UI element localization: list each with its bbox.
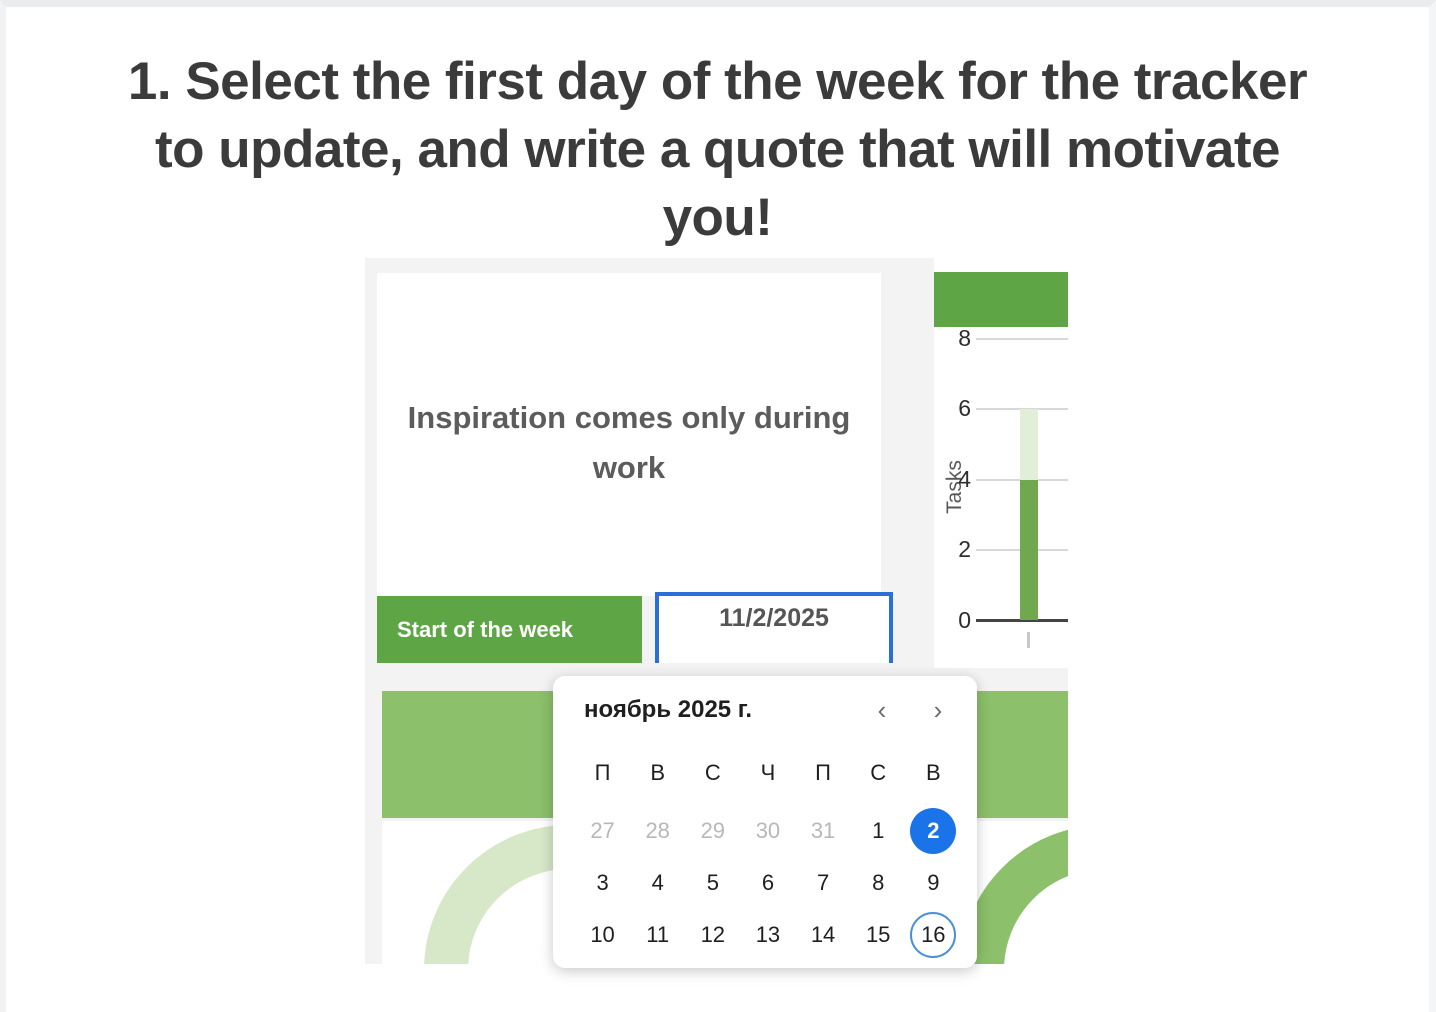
tasks-chart-panel: Tasks 8 6 4 2 0 [934,258,1068,668]
calendar-weekday: С [851,760,906,786]
date-picker-popup[interactable]: ноябрь 2025 г. ‹ › П В С Ч П С В 2728293… [553,676,977,968]
calendar-day-13[interactable]: 13 [740,912,795,958]
week-start-date-input[interactable]: 11/2/2025 [655,592,893,667]
calendar-week-row: 272829303112 [575,808,961,854]
calendar-weekday: П [575,760,630,786]
calendar-day-label: 11 [635,912,681,958]
calendar-weekday: П [796,760,851,786]
calendar-day-label: 14 [800,912,846,958]
calendar-day-12[interactable]: 12 [685,912,740,958]
calendar-day-1[interactable]: 1 [851,808,906,854]
calendar-day-label: 13 [745,912,791,958]
calendar-header: ноябрь 2025 г. ‹ › [553,696,977,738]
calendar-day-label: 3 [580,860,626,906]
calendar-day-label: 16 [910,912,956,958]
calendar-month-label: ноябрь 2025 г. [584,696,752,724]
quote-text: Inspiration comes only during work [377,393,881,493]
calendar-day-label: 15 [855,912,901,958]
chevron-right-icon[interactable]: › [921,694,955,728]
calendar-day-label: 12 [690,912,736,958]
calendar-day-6[interactable]: 6 [740,860,795,906]
calendar-day-29[interactable]: 29 [685,808,740,854]
calendar-day-3[interactable]: 3 [575,860,630,906]
chart-header-bar [934,272,1068,327]
chart-ytick-2: 2 [947,536,971,563]
calendar-day-15[interactable]: 15 [851,912,906,958]
calendar-day-label: 2 [910,808,956,854]
calendar-day-10[interactable]: 10 [575,912,630,958]
chart-ytick-4: 4 [947,466,971,493]
calendar-weekday-header: П В С Ч П С В [575,760,961,786]
calendar-weekday: С [685,760,740,786]
chart-bar-remaining [1020,409,1038,480]
calendar-day-label: 28 [635,808,681,854]
calendar-week-row: 3456789 [575,860,961,906]
calendar-day-8[interactable]: 8 [851,860,906,906]
calendar-weekday: Ч [740,760,795,786]
chart-ytick-6: 6 [947,395,971,422]
calendar-day-label: 30 [745,808,791,854]
calendar-day-label: 27 [580,808,626,854]
calendar-day-31[interactable]: 31 [796,808,851,854]
calendar-weekday: В [906,760,961,786]
calendar-day-label: 31 [800,808,846,854]
calendar-day-28[interactable]: 28 [630,808,685,854]
week-start-date-value: 11/2/2025 [719,604,829,633]
calendar-day-11[interactable]: 11 [630,912,685,958]
calendar-day-label: 29 [690,808,736,854]
calendar-day-7[interactable]: 7 [796,860,851,906]
calendar-week-row: 10111213141516 [575,912,961,958]
calendar-day-label: 6 [745,860,791,906]
calendar-day-label: 7 [800,860,846,906]
calendar-day-label: 9 [910,860,956,906]
calendar-day-30[interactable]: 30 [740,808,795,854]
chart-ytick-0: 0 [947,607,971,634]
calendar-day-14[interactable]: 14 [796,912,851,958]
quote-card: Inspiration comes only during work [377,273,881,596]
week-start-row: Start of the week 11/2/2025 [377,596,897,663]
chart-bar-completed [1020,480,1038,620]
calendar-day-label: 1 [855,808,901,854]
calendar-day-label: 10 [580,912,626,958]
calendar-day-label: 8 [855,860,901,906]
page-title: 1. Select the first day of the week for … [110,48,1325,252]
calendar-day-27[interactable]: 27 [575,808,630,854]
chart-ytick-8: 8 [947,325,971,352]
calendar-weekday: В [630,760,685,786]
calendar-day-2[interactable]: 2 [906,808,961,854]
chart-plot-area: Tasks 8 6 4 2 0 [934,327,1068,668]
chart-gridline-8 [976,338,1068,340]
calendar-day-16[interactable]: 16 [906,912,961,958]
calendar-day-label: 4 [635,860,681,906]
calendar-day-5[interactable]: 5 [685,860,740,906]
calendar-day-4[interactable]: 4 [630,860,685,906]
week-start-label: Start of the week [377,596,642,663]
chevron-left-icon[interactable]: ‹ [865,694,899,728]
calendar-day-label: 5 [690,860,736,906]
chart-x-tick [1027,632,1030,648]
calendar-day-9[interactable]: 9 [906,860,961,906]
